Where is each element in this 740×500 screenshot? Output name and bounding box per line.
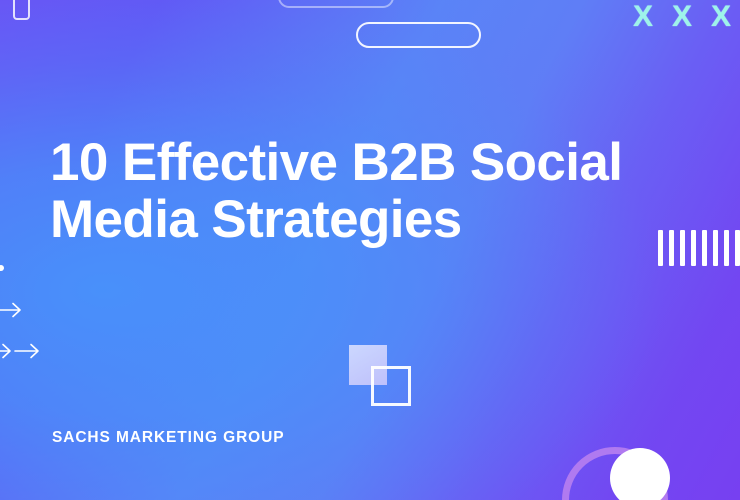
page-title-line-1: 10 Effective B2B Social bbox=[50, 134, 650, 191]
brand-name: SACHS MARKETING GROUP bbox=[52, 429, 284, 447]
banner-content: 10 Effective B2B Social Media Strategies… bbox=[0, 0, 740, 500]
page-title-line-2: Media Strategies bbox=[50, 191, 650, 248]
social-media-banner: X X X 10 Effective B2B Social Media Stra… bbox=[0, 0, 740, 500]
page-title: 10 Effective B2B Social Media Strategies bbox=[50, 134, 650, 248]
